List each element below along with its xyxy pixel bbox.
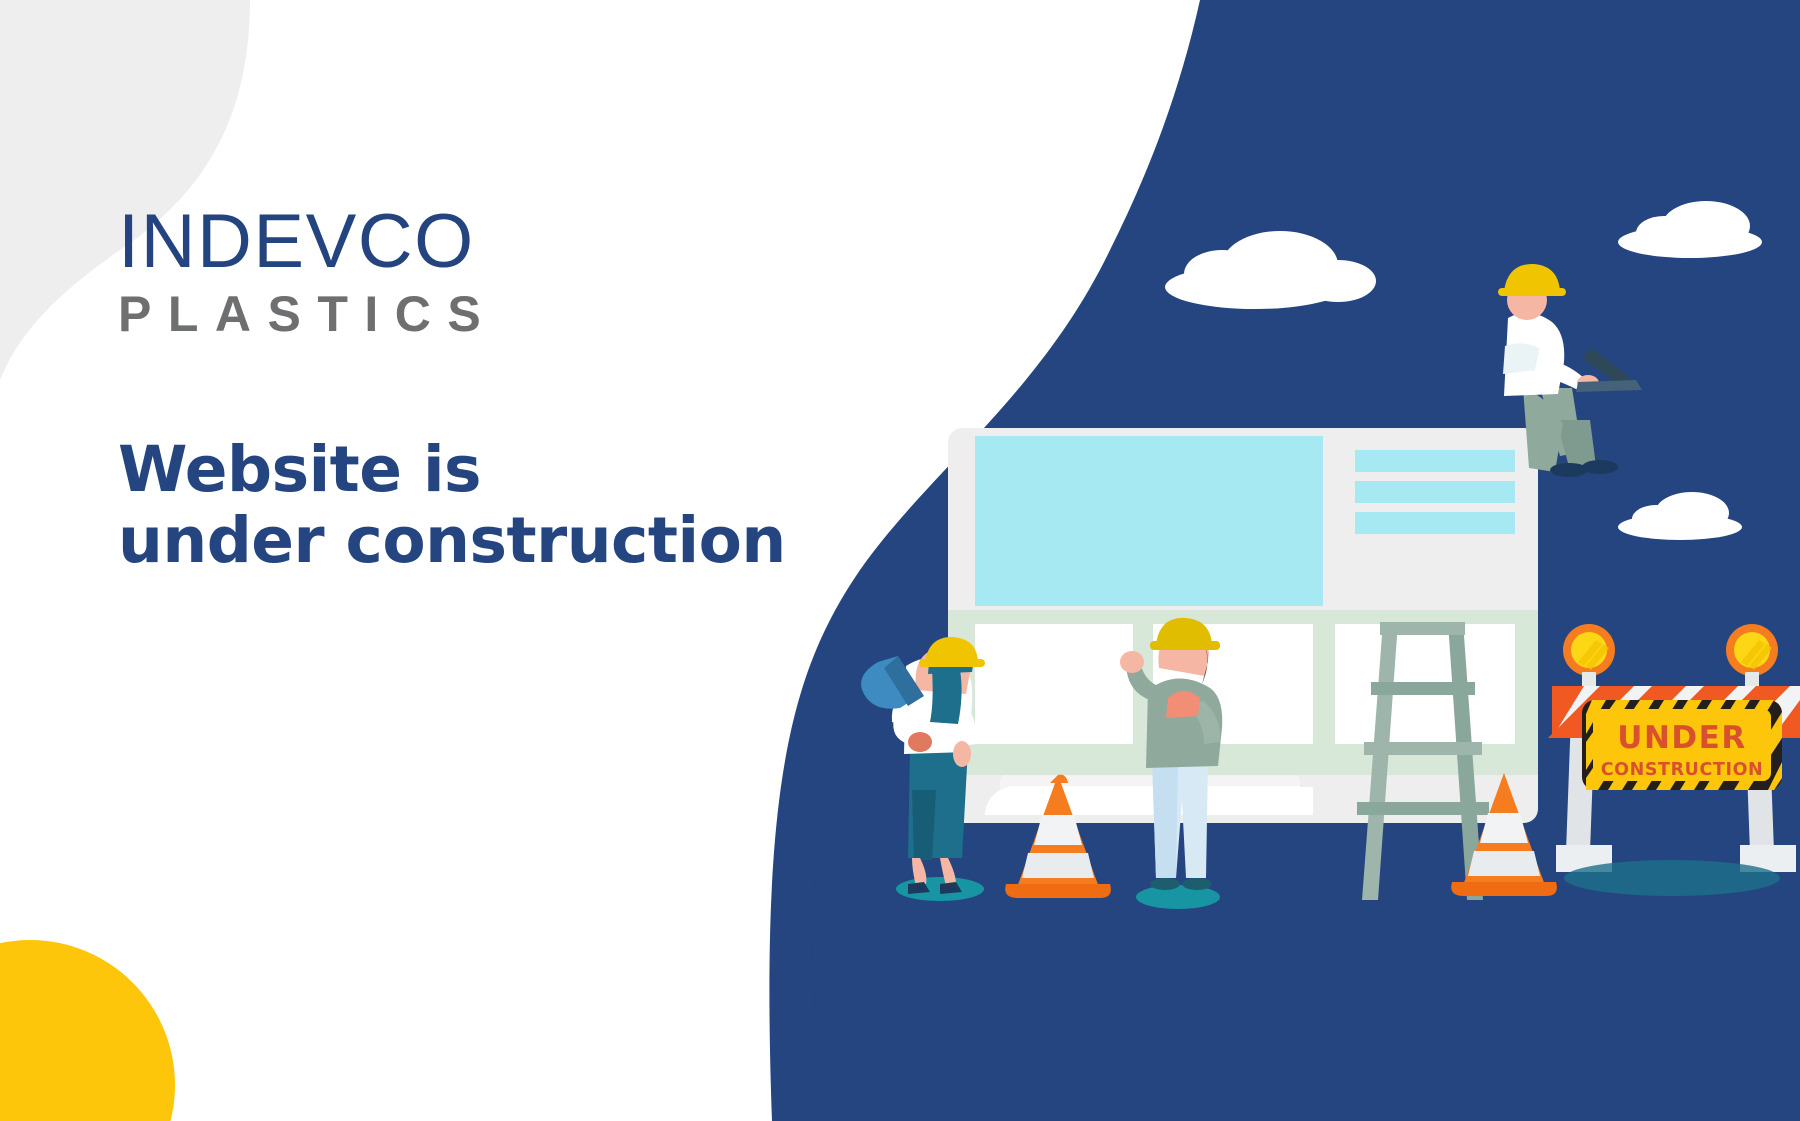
page-title: Website is under construction xyxy=(118,435,878,576)
brand-logo: INDEVCO PLASTICS xyxy=(118,205,878,339)
logo-secondary-text: PLASTICS xyxy=(118,289,878,339)
under-construction-sign: UNDER CONSTRUCTION xyxy=(1582,700,1782,790)
mockup-hero-block xyxy=(975,436,1323,606)
under-construction-page: UNDER CONSTRUCTION INDEVCO PLASTICS Webs… xyxy=(0,0,1800,1121)
mockup-sidebar-line-3 xyxy=(1355,512,1515,534)
headline-line-1: Website is xyxy=(118,435,878,506)
sign-text-under: UNDER xyxy=(1617,720,1746,756)
cloud-lower-right xyxy=(1675,523,1681,527)
mockup-card-1 xyxy=(975,624,1133,744)
sign-text-construction: CONSTRUCTION xyxy=(1601,760,1764,780)
logo-primary-text: INDEVCO xyxy=(118,205,878,279)
left-content-column: INDEVCO PLASTICS Website is under constr… xyxy=(118,205,878,577)
headline-line-2: under construction xyxy=(118,506,878,577)
mockup-sidebar-line-2 xyxy=(1355,481,1515,503)
mockup-sidebar-line-1 xyxy=(1355,450,1515,472)
